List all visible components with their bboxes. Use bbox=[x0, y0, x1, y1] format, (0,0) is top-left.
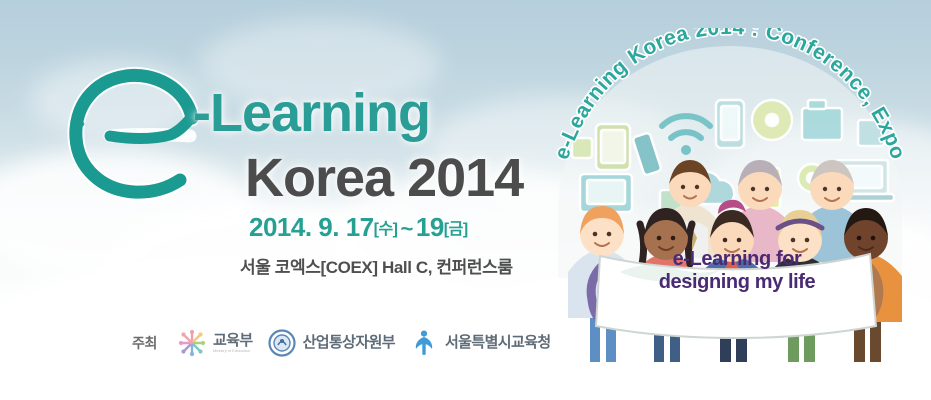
title-korea-2014: Korea 2014 bbox=[245, 147, 523, 209]
sponsor-subtitle: Ministry of Education bbox=[213, 349, 253, 353]
title-learning: -Learning bbox=[193, 82, 430, 144]
banner-slogan: e-Learning for designing my life bbox=[612, 248, 862, 294]
sponsor-sen: 서울특별시교육청 bbox=[409, 328, 551, 358]
sponsor-motie: 산업통상자원부 bbox=[267, 328, 395, 358]
sponsor-name: 서울특별시교육청 bbox=[445, 335, 551, 351]
banner-line-1: e-Learning for bbox=[612, 248, 862, 271]
person-tree-icon bbox=[409, 328, 439, 358]
sponsor-moe: 교육부 Ministry of Education bbox=[177, 328, 253, 358]
sponsor-name: 산업통상자원부 bbox=[303, 335, 395, 351]
poster-banner: -Learning Korea 2014 2014. 9. 17[수]~19[금… bbox=[0, 0, 931, 400]
date-separator: ~ bbox=[398, 216, 416, 241]
sponsor-name: 교육부 bbox=[213, 333, 253, 349]
event-date: 2014. 9. 17[수]~19[금] bbox=[249, 212, 468, 243]
emblem-circle-icon bbox=[267, 328, 297, 358]
date-end-weekday: [금] bbox=[444, 221, 468, 238]
banner-line-2: designing my life bbox=[612, 271, 862, 294]
brush-e-logo-icon bbox=[66, 62, 198, 202]
date-end: 19 bbox=[416, 212, 444, 242]
sponsors-row: 주최 bbox=[132, 328, 551, 358]
sponsors-label: 주최 bbox=[132, 333, 157, 353]
date-start-weekday: [수] bbox=[374, 221, 398, 238]
people-illustration bbox=[540, 28, 920, 378]
pinwheel-icon bbox=[177, 328, 207, 358]
date-start: 2014. 9. 17 bbox=[249, 212, 374, 242]
event-venue: 서울 코엑스[COEX] Hall C, 컨퍼런스룸 bbox=[240, 253, 513, 278]
